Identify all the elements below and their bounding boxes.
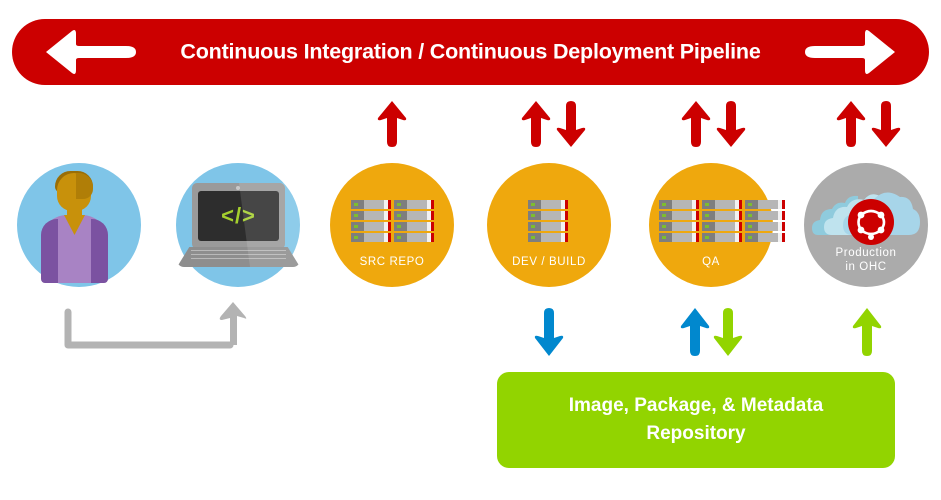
node-developer[interactable] bbox=[17, 163, 141, 287]
node-label-dev-build: DEV / BUILD bbox=[487, 255, 611, 269]
openshift-badge bbox=[848, 199, 894, 245]
pipeline-banner: Continuous Integration / Continuous Depl… bbox=[12, 19, 929, 85]
arrow-up-icon-src-repo bbox=[377, 101, 407, 152]
repository-label-line1: Image, Package, & Metadata bbox=[497, 392, 895, 420]
node-label-production-line1: Production bbox=[804, 246, 928, 260]
arrow-up-icon-dev-build bbox=[521, 101, 551, 152]
developer-feedback-loop bbox=[60, 300, 250, 360]
arrow-up-icon-qa-repo bbox=[680, 308, 710, 361]
server-rack-icon bbox=[659, 200, 785, 242]
repository-label-line2: Repository bbox=[497, 420, 895, 448]
arrow-down-icon-dev-build-repo bbox=[534, 308, 564, 361]
arrow-down-icon-dev-build bbox=[556, 101, 586, 152]
node-label-qa: QA bbox=[649, 255, 773, 269]
arrow-down-icon-production bbox=[871, 101, 901, 152]
node-src-repo[interactable]: SRC REPO bbox=[330, 163, 454, 287]
repository-label: Image, Package, & Metadata Repository bbox=[497, 392, 895, 448]
node-dev-build[interactable]: DEV / BUILD bbox=[487, 163, 611, 287]
arrow-right-icon bbox=[805, 28, 903, 76]
person-icon bbox=[29, 171, 120, 283]
laptop-code-icon: </> bbox=[177, 183, 300, 267]
page-title: Continuous Integration / Continuous Depl… bbox=[12, 40, 929, 65]
node-label-src-repo: SRC REPO bbox=[330, 255, 454, 269]
node-laptop[interactable]: </> bbox=[176, 163, 300, 287]
arrow-down-icon-qa-repo bbox=[713, 308, 743, 361]
node-production[interactable]: Production in OHC bbox=[804, 163, 928, 287]
server-rack-icon bbox=[528, 200, 568, 242]
server-rack-icon bbox=[351, 200, 434, 242]
cicd-pipeline-diagram: Continuous Integration / Continuous Depl… bbox=[0, 0, 941, 500]
repository-box[interactable]: Image, Package, & Metadata Repository bbox=[497, 372, 895, 468]
arrow-up-icon-production bbox=[836, 101, 866, 152]
node-qa[interactable]: QA bbox=[649, 163, 773, 287]
arrow-up-icon-production-repo bbox=[852, 308, 882, 361]
arrow-up-icon-qa bbox=[681, 101, 711, 152]
cloud-openshift-icon bbox=[812, 183, 920, 245]
node-label-production-line2: in OHC bbox=[804, 260, 928, 274]
arrow-down-icon-qa bbox=[716, 101, 746, 152]
